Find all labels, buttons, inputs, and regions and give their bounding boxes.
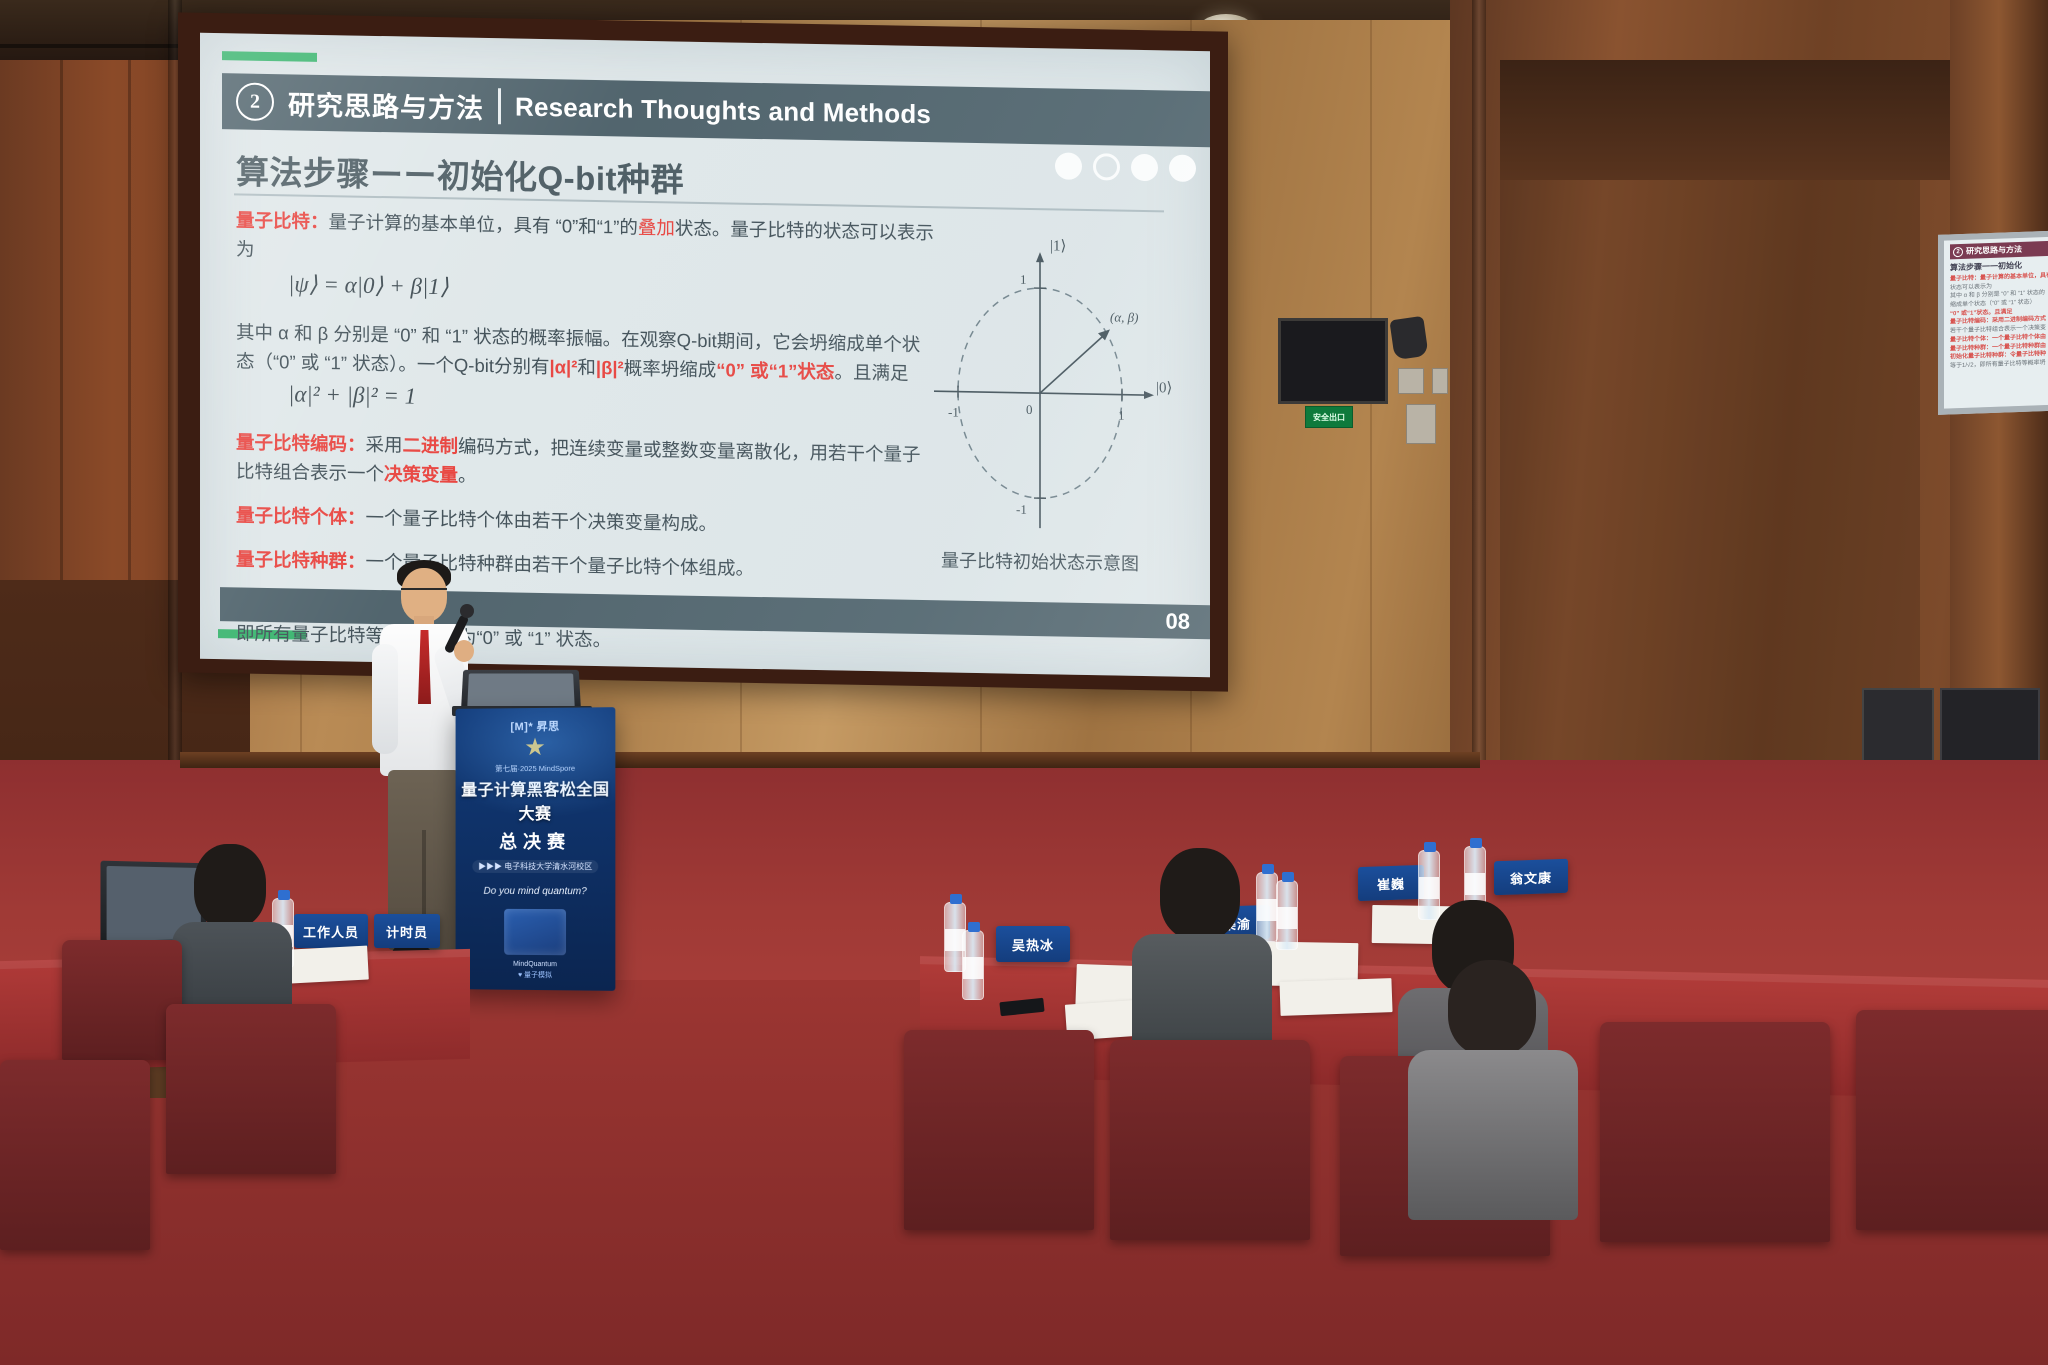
monitor-title: 算法步骤一一初始化 xyxy=(1950,258,2048,274)
para-hl-superposition: 叠加 xyxy=(638,217,675,239)
paragraph-population: 量子比特种群：一个量子比特种群由若干个量子比特个体组成。 xyxy=(236,545,936,587)
chair-7 xyxy=(1600,1022,1830,1242)
slide-header-cn: 研究思路与方法 xyxy=(288,83,484,126)
chair-3 xyxy=(0,1060,150,1250)
diagram-axis-right: |0⟩ xyxy=(1156,380,1172,396)
podium-artwork xyxy=(504,909,566,955)
monitor-header: 2 研究思路与方法 xyxy=(1950,240,2048,260)
presenter-glasses xyxy=(401,588,447,597)
nameplate-judge-cui: 崔巍 xyxy=(1358,865,1424,901)
diagram-tick-right: 1 xyxy=(1118,408,1124,423)
nameplate-judge-weng: 翁文康 xyxy=(1494,859,1568,896)
podium: [M]* 昇思 ★ 第七届·2025 MindSpore 量子计算黑客松全国大赛… xyxy=(456,707,616,991)
audience-member-4 xyxy=(1408,960,1578,1210)
para-text-qubit-a: 量子计算的基本单位，具有 “0”和“1”的 xyxy=(329,211,638,238)
paper-doc-5 xyxy=(1279,978,1392,1016)
podium-glow xyxy=(456,707,616,818)
presenter-arm-left xyxy=(372,644,398,754)
para-lead-qubit: 量子比特： xyxy=(236,209,329,232)
paragraph-encoding: 量子比特编码：采用二进制编码方式，把连续变量或整数变量离散化，用若干个量子比特组… xyxy=(236,427,936,498)
formula-normalization: |α|² + |β|² = 1 xyxy=(288,377,416,416)
wall-equipment xyxy=(1389,316,1428,360)
chair-2 xyxy=(166,1004,336,1174)
para-text-amp-mid: 和 xyxy=(577,357,596,378)
right-wall-upper-band xyxy=(1500,60,1950,180)
chair-1 xyxy=(62,940,182,1060)
accent-bar-top xyxy=(222,51,317,62)
diagram-axis-top: |1⟩ xyxy=(1050,238,1066,254)
audience-member-2 xyxy=(1132,848,1272,1068)
header-divider xyxy=(498,88,501,124)
right-wall-panel-a xyxy=(1500,180,1920,820)
progress-dot-3 xyxy=(1131,154,1158,181)
wall-plate-a xyxy=(1398,368,1424,394)
diagram-point-label: (α, β) xyxy=(1110,309,1138,325)
podium-final-label: 总决赛 xyxy=(456,828,616,854)
para-text-enc-a: 采用 xyxy=(366,433,403,455)
water-bottle-3 xyxy=(962,930,984,1000)
progress-dot-2-active xyxy=(1093,153,1120,180)
nameplate-judge-wu: 吴热冰 xyxy=(996,926,1070,962)
confidence-monitor: 2 研究思路与方法 算法步骤一一初始化 量子比特：量子计算的基本单位，具有 状态… xyxy=(1938,229,2048,415)
nameplate-staff: 工作人员 xyxy=(294,914,368,948)
para-lead-population: 量子比特种群： xyxy=(236,549,366,572)
audience-body-4 xyxy=(1408,1050,1578,1220)
slide-title: 算法步骤ーー初始化Q-bit种群 xyxy=(236,145,684,201)
progress-dots xyxy=(1055,152,1196,182)
formula-state-vector: |ψ⟩ = α|0⟩ + β|1⟩ xyxy=(288,267,449,306)
para-hl-zero-one-state: “0” 或“1”状态 xyxy=(716,359,834,382)
exit-sign: 安全出口 xyxy=(1305,406,1353,428)
diagram-tick-bottom: -1 xyxy=(1016,502,1027,517)
diagram-tick-top: 1 xyxy=(1020,272,1026,287)
podium-footer-sub: ♥ 量子模拟 xyxy=(456,969,616,981)
water-bottle-5 xyxy=(1276,880,1298,950)
progress-dot-4 xyxy=(1169,155,1196,182)
wall-plate-b xyxy=(1432,368,1448,394)
para-lead-individual: 量子比特个体： xyxy=(236,504,366,527)
para-hl-binary: 二进制 xyxy=(403,434,459,456)
para-hl-beta-sq: |β|² xyxy=(596,357,624,379)
wall-phone xyxy=(1406,404,1436,444)
presenter-hand xyxy=(454,640,474,662)
para-text-enc-c: 。 xyxy=(458,464,477,485)
audience-head-4 xyxy=(1448,960,1536,1056)
diagram-caption: 量子比特初始状态示意图 xyxy=(890,545,1190,576)
para-text-amp-c: 。且满足 xyxy=(834,361,908,383)
wall-monitor-dark xyxy=(1278,318,1388,404)
para-hl-decision-variable: 决策变量 xyxy=(384,463,458,485)
podium-venue: ▶▶▶ 电子科技大学清水河校区 xyxy=(472,860,598,873)
chair-8 xyxy=(1856,1010,2048,1230)
audience-head-1 xyxy=(194,844,266,928)
audience-head-2 xyxy=(1160,848,1240,940)
diagram-origin: 0 xyxy=(1026,402,1032,417)
slide-header-en: Research Thoughts and Methods xyxy=(515,91,931,130)
chair-4 xyxy=(904,1030,1094,1230)
chair-5 xyxy=(1110,1040,1310,1240)
paragraph-individual: 量子比特个体：一个量子比特个体由若干个决策变量构成。 xyxy=(236,500,936,542)
monitor-header-cn: 研究思路与方法 xyxy=(1966,244,2022,257)
microphone-head xyxy=(460,604,474,618)
section-number-badge: 2 xyxy=(236,82,274,121)
paragraph-amplitude: 其中 α 和 β 分别是 “0” 和 “1” 状态的概率振幅。在观察Q-bit期… xyxy=(236,317,936,425)
podium-slogan: Do you mind quantum? xyxy=(456,886,616,898)
paragraph-qubit-definition: 量子比特：量子计算的基本单位，具有 “0”和“1”的叠加状态。量子比特的状态可以… xyxy=(236,205,936,315)
slide-page-number: 08 xyxy=(1166,608,1190,634)
qubit-state-diagram: |1⟩ |0⟩ 1 -1 -1 1 0 (α, β) xyxy=(900,226,1180,561)
projection-screen: 2 研究思路与方法 Research Thoughts and Methods … xyxy=(200,33,1210,678)
podium-laptop-screen xyxy=(467,674,574,708)
para-lead-encoding: 量子比特编码： xyxy=(236,431,366,454)
monitor-section-badge: 2 xyxy=(1953,246,1963,256)
para-text-individual: 一个量子比特个体由若干个决策变量构成。 xyxy=(366,507,718,534)
podium-footer: MindQuantum xyxy=(456,960,616,968)
para-hl-alpha-sq: |α|² xyxy=(549,356,577,378)
nameplate-timekeeper: 计时员 xyxy=(374,914,440,948)
progress-dot-1 xyxy=(1055,152,1082,179)
para-text-amp-b: 概率坍缩成 xyxy=(624,357,717,380)
slide-header-bar: 2 研究思路与方法 Research Thoughts and Methods xyxy=(222,73,1210,147)
conference-room-photo: 安全出口 2 研究思路与方法 Research Thoughts and Met… xyxy=(0,0,2048,1365)
diagram-tick-left: -1 xyxy=(948,404,959,419)
